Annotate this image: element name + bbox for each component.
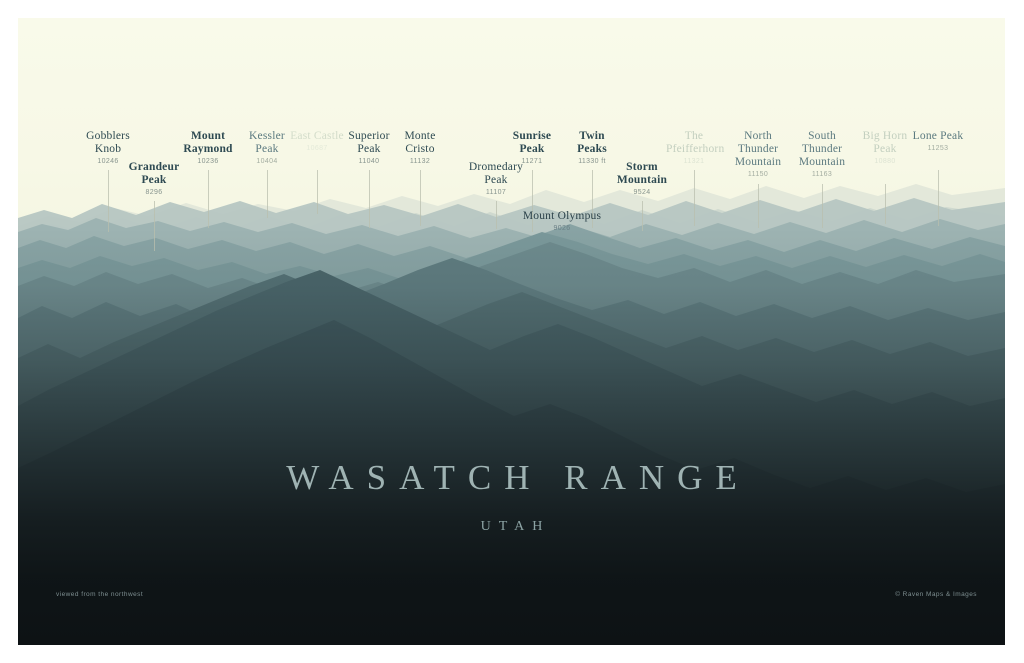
- peak-label-mount-olympus: Mount Olympus 9026: [507, 210, 617, 233]
- peak-elevation: 10236: [180, 158, 236, 166]
- peak-label-south-thunder-mountain: South Thunder Mountain11163: [794, 130, 850, 178]
- title-block: WASATCH RANGE UTAH: [18, 458, 1005, 535]
- peak-elevation: 11150: [730, 171, 786, 179]
- peak-name: Lone Peak: [910, 130, 966, 143]
- poster-title: WASATCH RANGE: [18, 458, 1005, 498]
- peak-elevation: 11330 ft: [564, 158, 620, 166]
- peak-label-group: Mount Olympus 9026 Gobblers Knob10246Gra…: [18, 18, 1005, 318]
- peak-label-twin-peaks: Twin Peaks11330 ft: [564, 130, 620, 166]
- peak-elevation: 9026: [507, 225, 617, 233]
- peak-elevation: 10404: [239, 158, 295, 166]
- poster-subtitle: UTAH: [18, 519, 1005, 535]
- peak-elevation: 10687: [289, 145, 345, 153]
- peak-name: Mount Raymond: [180, 130, 236, 156]
- peak-name: Sunrise Peak: [504, 130, 560, 156]
- peak-label-big-horn-peak: Big Horn Peak10880: [857, 130, 913, 166]
- peak-elevation: 11163: [794, 171, 850, 179]
- peak-label-north-thunder-mountain: North Thunder Mountain11150: [730, 130, 786, 178]
- peak-label-kessler-peak: Kessler Peak10404: [239, 130, 295, 166]
- peak-name: Big Horn Peak: [857, 130, 913, 156]
- peak-label-monte-cristo: Monte Cristo11132: [392, 130, 448, 166]
- peak-label-superior-peak: Superior Peak11040: [341, 130, 397, 166]
- peak-label-lone-peak: Lone Peak11253: [910, 130, 966, 153]
- peak-name: Monte Cristo: [392, 130, 448, 156]
- peak-name: Storm Mountain: [614, 161, 670, 187]
- peak-name: Kessler Peak: [239, 130, 295, 156]
- peak-elevation: 11253: [910, 145, 966, 153]
- peak-elevation: 11321: [666, 158, 722, 166]
- peak-name: The Pfeifferhorn: [666, 130, 722, 156]
- peak-name: Superior Peak: [341, 130, 397, 156]
- peak-name: South Thunder Mountain: [794, 130, 850, 169]
- peak-elevation: 9524: [614, 189, 670, 197]
- peak-name: Twin Peaks: [564, 130, 620, 156]
- peak-label-the-pfeifferhorn: The Pfeifferhorn11321: [666, 130, 722, 166]
- peak-label-east-castle: East Castle10687: [289, 130, 345, 153]
- footer-credit-right: © Raven Maps & Images: [895, 591, 977, 598]
- peak-name: Mount Olympus: [507, 210, 617, 223]
- peak-elevation: 11040: [341, 158, 397, 166]
- peak-name: East Castle: [289, 130, 345, 143]
- peak-elevation: 11107: [468, 189, 524, 197]
- peak-label-storm-mountain: Storm Mountain9524: [614, 161, 670, 197]
- footer-note-left: viewed from the northwest: [56, 591, 143, 598]
- peak-label-dromedary-peak: Dromedary Peak11107: [468, 161, 524, 197]
- peak-name: North Thunder Mountain: [730, 130, 786, 169]
- poster-canvas: Mount Olympus 9026 Gobblers Knob10246Gra…: [18, 18, 1005, 645]
- peak-elevation: 10880: [857, 158, 913, 166]
- peak-name: Grandeur Peak: [126, 161, 182, 187]
- peak-label-mount-raymond: Mount Raymond10236: [180, 130, 236, 166]
- peak-elevation: 11271: [504, 158, 560, 166]
- peak-name: Gobblers Knob: [80, 130, 136, 156]
- peak-label-sunrise-peak: Sunrise Peak11271: [504, 130, 560, 166]
- peak-elevation: 11132: [392, 158, 448, 166]
- peak-elevation: 8296: [126, 189, 182, 197]
- peak-label-grandeur-peak: Grandeur Peak8296: [126, 161, 182, 197]
